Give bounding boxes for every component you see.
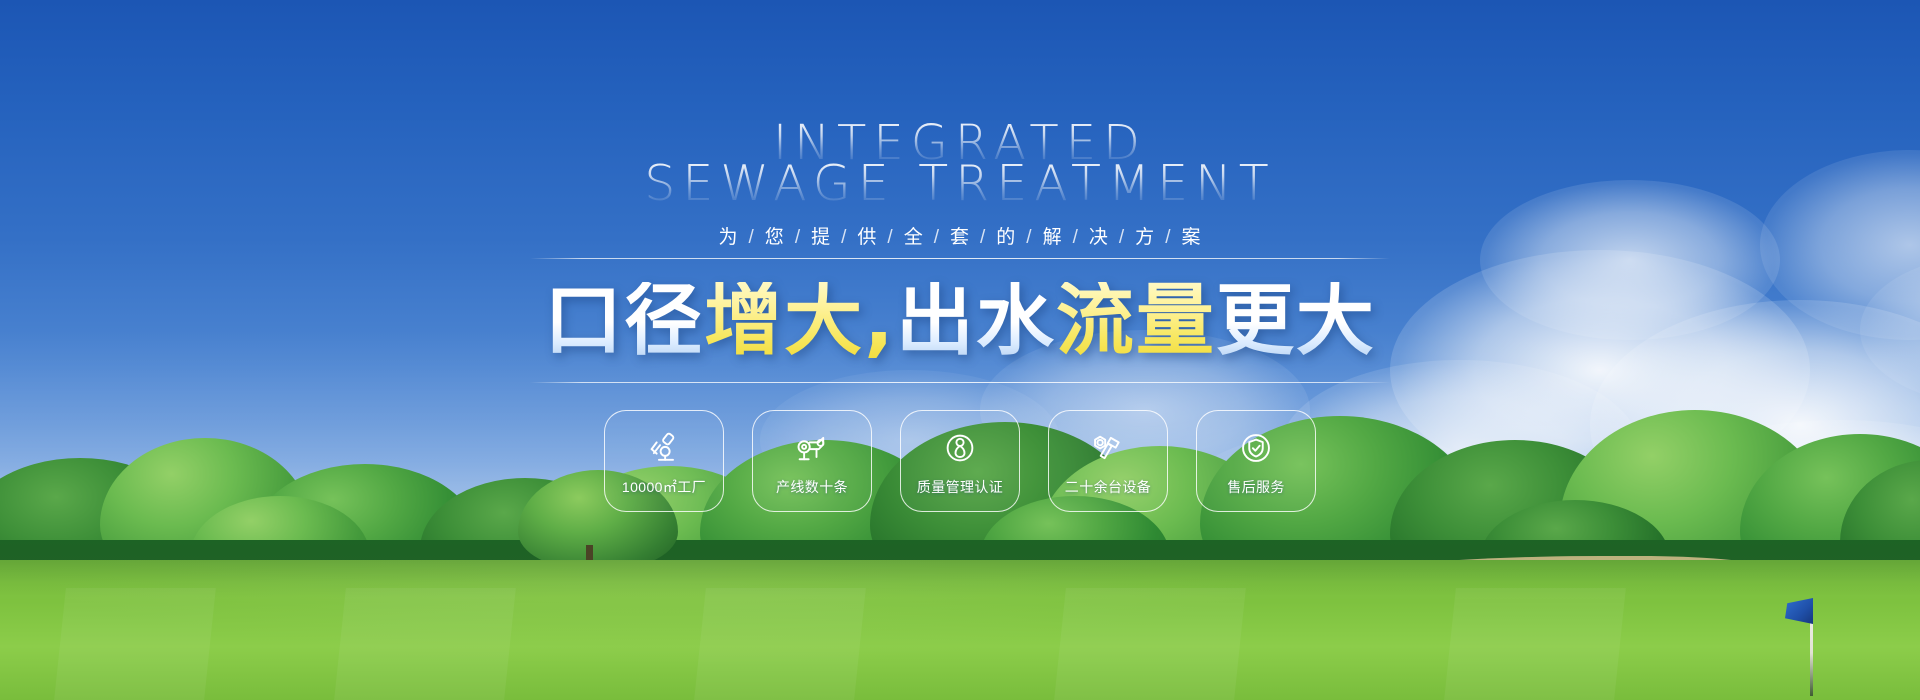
mow-stripe <box>54 588 216 700</box>
english-title-line-2: SEWAGE TREATMENT <box>0 160 1920 207</box>
slogan-separator: / <box>1016 227 1042 248</box>
slogan-char: 提 <box>811 227 831 248</box>
feature-badge[interactable]: 产线数十条 <box>752 410 872 512</box>
slogan-separator: / <box>924 227 950 248</box>
english-title-line-1: INTEGRATED <box>0 120 1920 166</box>
headline-segment: , <box>864 282 896 360</box>
slogan-char: 案 <box>1181 227 1201 248</box>
mow-stripe <box>1444 588 1626 700</box>
feature-badge[interactable]: 质量管理认证 <box>900 410 1020 512</box>
slogan-separator: / <box>1109 227 1135 248</box>
slogan-separator: / <box>1063 227 1089 248</box>
feature-badge[interactable]: 售后服务 <box>1196 410 1316 512</box>
slogan-separator: / <box>831 227 857 248</box>
slogan-char: 决 <box>1089 227 1109 248</box>
feature-badge-label: 质量管理认证 <box>917 477 1003 497</box>
mow-stripe <box>334 588 516 700</box>
headline-segment: 增大 <box>704 282 864 360</box>
feature-badge-label: 二十余台设备 <box>1065 477 1151 497</box>
slogan-separator: / <box>877 227 903 248</box>
bolt-nut-icon <box>1088 428 1128 468</box>
feature-badge[interactable]: 10000㎡工厂 <box>604 410 724 512</box>
feature-badge-label: 产线数十条 <box>776 477 848 497</box>
slogan-separator: / <box>970 227 996 248</box>
feature-badge-label: 10000㎡工厂 <box>622 477 706 497</box>
slogan-separator: / <box>739 227 765 248</box>
slogan-characters: 为/您/提/供/全/套/的/解/决/方/案 <box>719 222 1202 249</box>
mow-stripe <box>1054 588 1246 700</box>
award-medal-icon <box>940 428 980 468</box>
divider-top <box>530 258 1390 259</box>
slogan-char: 解 <box>1043 227 1063 248</box>
feature-badge-label: 售后服务 <box>1227 477 1285 497</box>
slogan-separator: / <box>1155 227 1181 248</box>
machinery-icon <box>792 428 832 468</box>
slogan-char: 为 <box>719 227 739 248</box>
slogan-char: 方 <box>1135 227 1155 248</box>
slogan-char: 套 <box>950 227 970 248</box>
slogan-char: 您 <box>765 227 785 248</box>
microscope-icon <box>644 428 684 468</box>
headline-segment: 口径 <box>544 282 704 360</box>
shield-check-icon <box>1236 428 1276 468</box>
headline-segment: 出水 <box>896 282 1056 360</box>
english-title-block: INTEGRATED SEWAGE TREATMENT <box>0 120 1920 207</box>
feature-badge[interactable]: 二十余台设备 <box>1048 410 1168 512</box>
headline-segment: 流量 <box>1056 282 1216 360</box>
fairway-shadow <box>0 560 1920 598</box>
feature-badge-list: 10000㎡工厂产线数十条质量管理认证二十余台设备售后服务 <box>0 410 1920 512</box>
slogan-char: 供 <box>857 227 877 248</box>
hero-banner: INTEGRATED SEWAGE TREATMENT 为/您/提/供/全/套/… <box>0 0 1920 700</box>
slogan-separator: / <box>785 227 811 248</box>
slogan-row: 为/您/提/供/全/套/的/解/决/方/案 <box>0 222 1920 249</box>
divider-bottom <box>530 382 1390 383</box>
page-title: 口径增大,出水流量更大 <box>0 282 1920 360</box>
slogan-char: 全 <box>904 227 924 248</box>
headline-segment: 更大 <box>1216 282 1376 360</box>
slogan-char: 的 <box>996 227 1016 248</box>
mow-stripe <box>694 588 866 700</box>
